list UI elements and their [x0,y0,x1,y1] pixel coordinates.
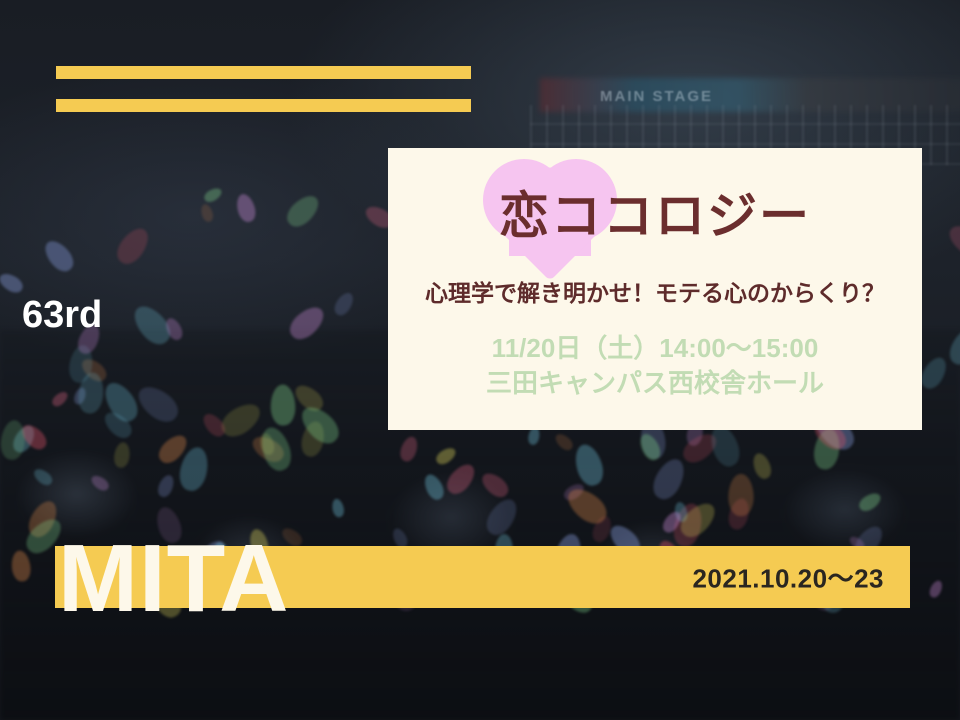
balloon-shape [31,466,55,488]
balloon-shape [199,203,215,223]
festival-date-range: 2021.10.20〜23 [692,559,884,596]
event-venue: 三田キャンパス西校舎ホール [408,367,902,400]
decorative-bars [56,66,471,112]
balloon-shape [917,353,951,392]
balloon-shape [944,220,960,262]
event-meta: 11/20日（土）14:00〜15:00 三田キャンパス西校舎ホール [408,332,902,401]
poster-canvas: MAIN STAGE 2021.10.20〜23 63rd MITA FESTI… [0,0,960,720]
balloon-shape [945,326,960,368]
balloon-shape [40,236,78,276]
decorative-bar-1 [56,66,471,79]
balloon-shape [0,419,27,461]
balloon-shape [234,192,258,224]
event-headline-row: 恋ココロジー [408,172,902,260]
festival-ordinal: 63rd [22,296,102,334]
balloon-shape [927,579,944,600]
balloon-shape [10,550,32,583]
festival-title-line-1: MITA [58,532,551,626]
event-datetime: 11/20日（土）14:00〜15:00 [408,332,902,365]
balloon-shape [648,454,690,504]
event-headline: 恋ココロジー [499,191,811,241]
balloon-shape [282,190,324,232]
decorative-bar-2 [56,99,471,112]
balloon-shape [285,301,330,344]
balloon-shape [0,270,26,296]
balloon-shape [112,223,154,269]
balloon-shape [728,474,753,516]
balloon-shape [856,490,883,515]
balloon-shape [571,441,607,489]
balloon-shape [553,431,576,453]
event-subtitle: 心理学で解き明かせ！モテる心のからくり？ [408,274,902,308]
balloon-shape [202,186,224,205]
event-card: 恋ココロジー 心理学で解き明かせ！モテる心のからくり？ 11/20日（土）14:… [388,148,922,430]
event-card-body: 恋ココロジー 心理学で解き明かせ！モテる心のからくり？ 11/20日（土）14:… [388,148,922,430]
balloon-shape [331,290,357,319]
balloon-shape [750,451,774,481]
